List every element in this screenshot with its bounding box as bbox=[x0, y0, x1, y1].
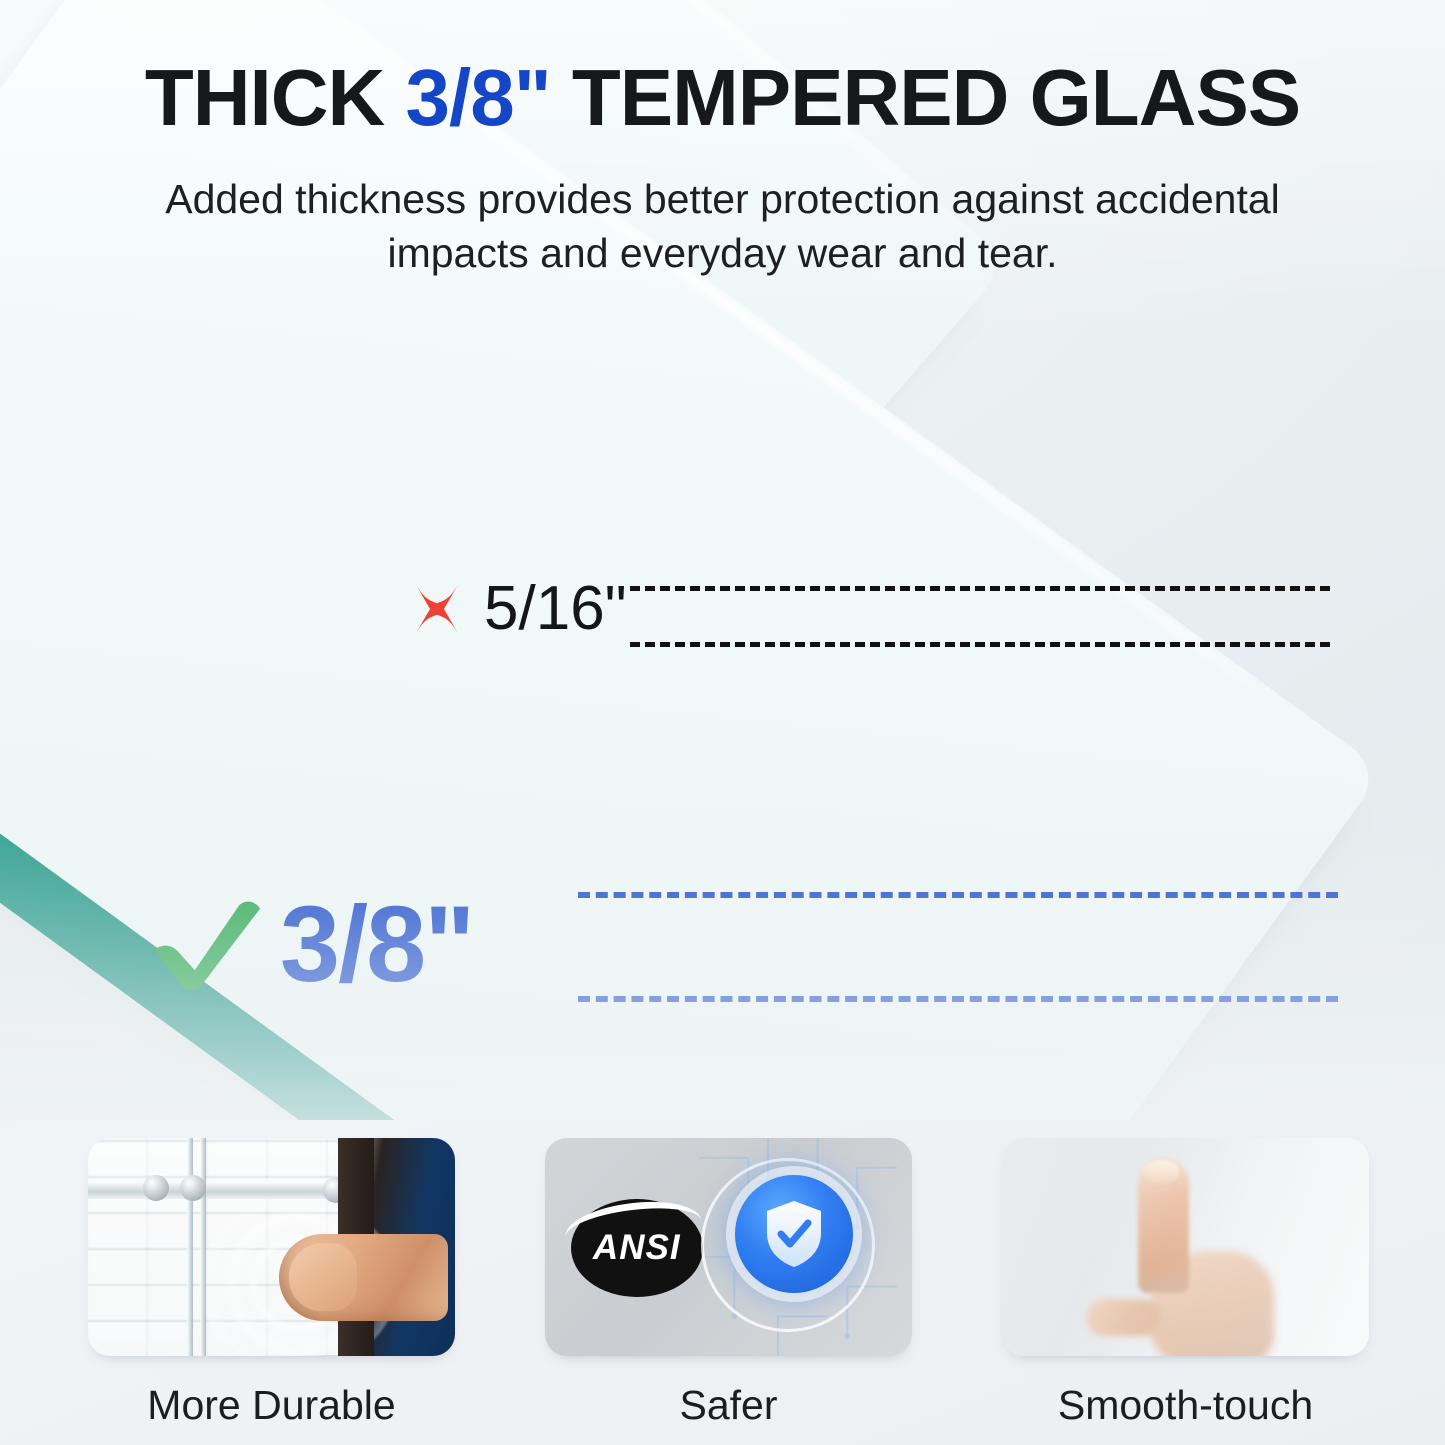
thin-dimension-line-top bbox=[630, 586, 1330, 591]
title-prefix: THICK bbox=[145, 53, 406, 142]
shield-check-icon bbox=[763, 1199, 825, 1269]
feature-card-list: More Durable ANSI bbox=[88, 1138, 1370, 1429]
thick-measurement-label: 3/8" bbox=[150, 890, 473, 998]
page-subtitle: Added thickness provides better protecti… bbox=[110, 172, 1335, 280]
roller-wheel-2 bbox=[180, 1175, 206, 1201]
hand bbox=[1149, 1251, 1274, 1356]
title-accent: 3/8" bbox=[405, 53, 550, 142]
finger-touch-image bbox=[1002, 1138, 1369, 1356]
ansi-shield-image: ANSI bbox=[545, 1138, 912, 1356]
feature-caption: More Durable bbox=[88, 1382, 455, 1429]
title-suffix: TEMPERED GLASS bbox=[551, 53, 1301, 142]
slider-rail bbox=[88, 1182, 360, 1199]
fingernail bbox=[1143, 1160, 1180, 1184]
knuckles bbox=[289, 1243, 357, 1311]
feature-caption: Smooth-touch bbox=[1002, 1382, 1369, 1429]
roller-wheel-1 bbox=[143, 1175, 169, 1201]
feature-card-smooth-touch: Smooth-touch bbox=[1002, 1138, 1369, 1429]
index-finger bbox=[1138, 1158, 1189, 1293]
glass-thickness-photo: 5/16" 3/8" bbox=[0, 0, 1445, 1120]
thick-glass-face bbox=[0, 0, 1383, 1120]
infographic-root: 5/16" 3/8" bbox=[0, 0, 1445, 1445]
feature-card-more-durable: More Durable bbox=[88, 1138, 455, 1429]
thumb-finger bbox=[1086, 1299, 1159, 1336]
page-title: THICK 3/8" TEMPERED GLASS bbox=[0, 52, 1445, 144]
feature-card-safer: ANSI Safer bbox=[545, 1138, 912, 1429]
thick-glass-panel bbox=[0, 0, 1383, 1120]
thick-measurement-value: 3/8" bbox=[280, 890, 473, 998]
x-mark-icon bbox=[408, 580, 466, 638]
door-stile-right bbox=[200, 1138, 206, 1356]
security-badge bbox=[735, 1175, 853, 1293]
door-stile-left bbox=[187, 1138, 193, 1356]
thin-measurement-value: 5/16" bbox=[484, 578, 627, 640]
thin-dimension-line-bottom bbox=[630, 642, 1330, 647]
check-mark-icon bbox=[150, 896, 262, 992]
thick-glass-edge bbox=[0, 576, 876, 1120]
thick-dimension-line-top bbox=[578, 892, 1338, 898]
fist bbox=[279, 1234, 448, 1321]
thick-dimension-line-bottom bbox=[578, 996, 1338, 1002]
feature-caption: Safer bbox=[545, 1382, 912, 1429]
ansi-logo: ANSI bbox=[571, 1199, 703, 1297]
shower-door-fist-image bbox=[88, 1138, 455, 1356]
thin-measurement-label: 5/16" bbox=[408, 578, 627, 640]
